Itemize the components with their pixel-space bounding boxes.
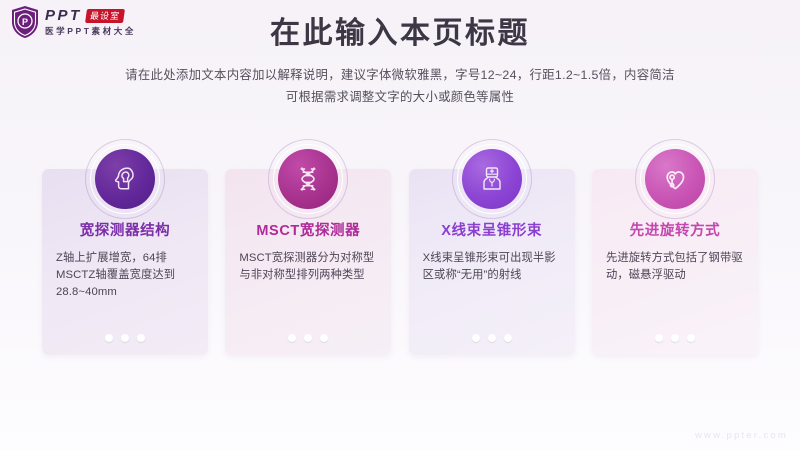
dna-helix-icon (278, 149, 338, 209)
subtitle-block: 请在此处添加文本内容加以解释说明，建议字体微软雅黑，字号12~24，行距1.2~… (0, 64, 800, 108)
card-title: 宽探测器结构 (56, 221, 194, 241)
card-dots (655, 334, 695, 342)
subtitle-line-1: 请在此处添加文本内容加以解释说明，建议字体微软雅黑，字号12~24，行距1.2~… (0, 64, 800, 86)
icon-badge (451, 138, 533, 220)
dot (472, 334, 480, 342)
dot (105, 334, 113, 342)
card-dots (105, 334, 145, 342)
watermark: www.ppter.com (695, 430, 788, 441)
card-title: X线束呈锥形束 (423, 221, 561, 241)
icon-badge (267, 138, 349, 220)
dot (320, 334, 328, 342)
card-title: 先进旋转方式 (606, 221, 744, 241)
dot (304, 334, 312, 342)
card-row: 宽探测器结构 Z轴上扩展增宽，64排MSCTZ轴覆盖宽度达到28.8~40mm (42, 169, 758, 355)
subtitle-line-2: 可根据需求调整文字的大小或颜色等属性 (0, 86, 800, 108)
dot (687, 334, 695, 342)
dot (655, 334, 663, 342)
card-msct-wide-detector[interactable]: MSCT宽探测器 MSCT宽探测器分为对称型与非对称型排列两种类型 (225, 169, 391, 355)
doctor-icon (462, 149, 522, 209)
page-title: 在此输入本页标题 (0, 14, 800, 54)
dot (671, 334, 679, 342)
card-dots (472, 334, 512, 342)
card-body: Z轴上扩展增宽，64排MSCTZ轴覆盖宽度达到28.8~40mm (56, 250, 194, 301)
dot (488, 334, 496, 342)
dot (137, 334, 145, 342)
card-body: 先进旋转方式包括了钢带驱动，磁悬浮驱动 (606, 250, 744, 284)
dot (121, 334, 129, 342)
card-cone-beam[interactable]: X线束呈锥形束 X线束呈锥形束可出现半影区或称“无用”的射线 (409, 169, 575, 355)
icon-badge (634, 138, 716, 220)
icon-badge (84, 138, 166, 220)
card-body: X线束呈锥形束可出现半影区或称“无用”的射线 (423, 250, 561, 284)
dot (288, 334, 296, 342)
card-body: MSCT宽探测器分为对称型与非对称型排列两种类型 (239, 250, 377, 284)
slide-header: 在此输入本页标题 请在此处添加文本内容加以解释说明，建议字体微软雅黑，字号12~… (0, 14, 800, 108)
heart-pulse-icon (645, 149, 705, 209)
head-profile-icon (95, 149, 155, 209)
dot (504, 334, 512, 342)
card-wide-detector-structure[interactable]: 宽探测器结构 Z轴上扩展增宽，64排MSCTZ轴覆盖宽度达到28.8~40mm (42, 169, 208, 355)
card-advanced-rotation[interactable]: 先进旋转方式 先进旋转方式包括了钢带驱动，磁悬浮驱动 (592, 169, 758, 355)
card-dots (288, 334, 328, 342)
card-title: MSCT宽探测器 (239, 221, 377, 241)
